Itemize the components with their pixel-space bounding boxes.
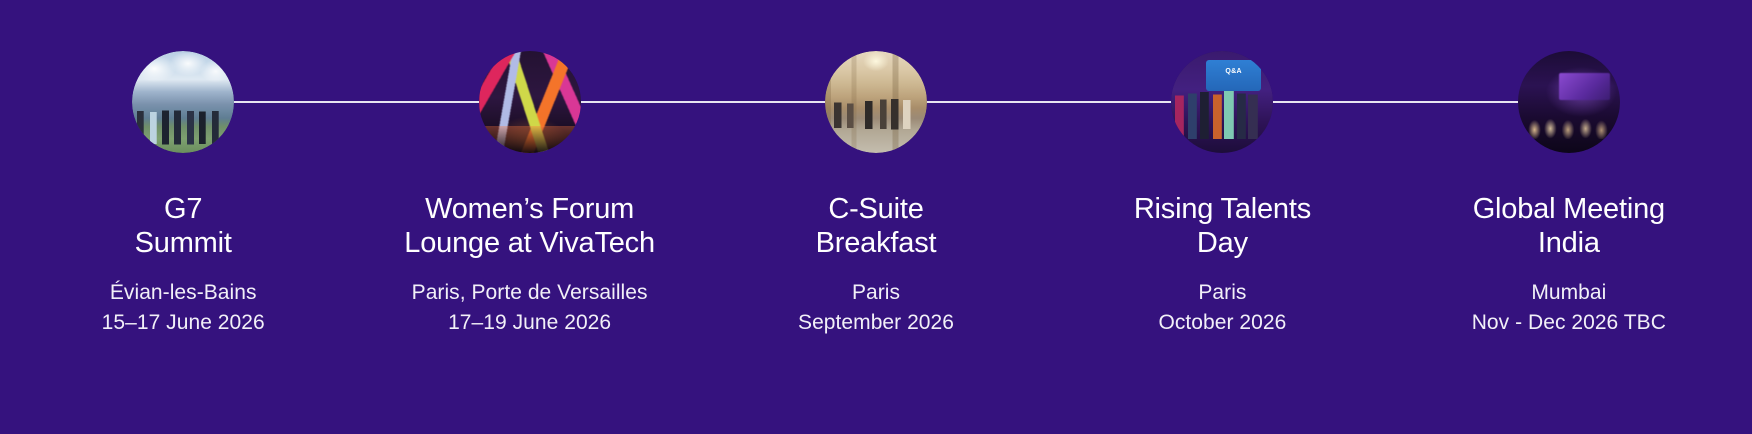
global-meeting-india-thumbnail[interactable] — [1518, 51, 1620, 153]
event-date: September 2026 — [798, 308, 954, 338]
timeline-item-womens-forum-lounge-vivatech[interactable]: Women’s Forum Lounge at VivaTech Paris, … — [356, 0, 702, 338]
c-suite-breakfast-thumbnail[interactable] — [825, 51, 927, 153]
event-title: G7 Summit — [135, 192, 232, 260]
c-suite-breakfast-photo — [825, 51, 927, 153]
rising-talents-day-photo: Q&A — [1171, 51, 1273, 153]
event-location: Paris, Porte de Versailles — [412, 278, 648, 308]
timeline-items: G7 Summit Évian-les-Bains 15–17 June 202… — [0, 0, 1752, 434]
event-date: 15–17 June 2026 — [102, 308, 265, 338]
event-location: Paris — [1198, 278, 1246, 308]
event-date: October 2026 — [1158, 308, 1286, 338]
timeline-item-global-meeting-india[interactable]: Global Meeting India Mumbai Nov - Dec 20… — [1396, 0, 1742, 338]
timeline-item-c-suite-breakfast[interactable]: C-Suite Breakfast Paris September 2026 — [703, 0, 1049, 338]
event-date: 17–19 June 2026 — [448, 308, 611, 338]
qa-screen-label: Q&A — [1206, 68, 1261, 75]
global-meeting-india-photo — [1518, 51, 1620, 153]
event-date: Nov - Dec 2026 TBC — [1472, 308, 1666, 338]
event-location: Évian-les-Bains — [110, 278, 257, 308]
event-location: Paris — [852, 278, 900, 308]
event-location: Mumbai — [1531, 278, 1606, 308]
timeline-item-rising-talents-day[interactable]: Q&A Rising Talents Day Paris October 202… — [1049, 0, 1395, 338]
g7-summit-thumbnail[interactable] — [132, 51, 234, 153]
events-timeline: G7 Summit Évian-les-Bains 15–17 June 202… — [0, 0, 1752, 434]
event-title: Women’s Forum Lounge at VivaTech — [404, 192, 655, 260]
g7-summit-photo — [132, 51, 234, 153]
vivatech-neon-letters-photo — [479, 51, 581, 153]
event-title: Rising Talents Day — [1134, 192, 1311, 260]
vivatech-thumbnail[interactable] — [479, 51, 581, 153]
event-title: C-Suite Breakfast — [816, 192, 937, 260]
rising-talents-day-thumbnail[interactable]: Q&A — [1171, 51, 1273, 153]
timeline-item-g7-summit[interactable]: G7 Summit Évian-les-Bains 15–17 June 202… — [10, 0, 356, 338]
event-title: Global Meeting India — [1473, 192, 1665, 260]
